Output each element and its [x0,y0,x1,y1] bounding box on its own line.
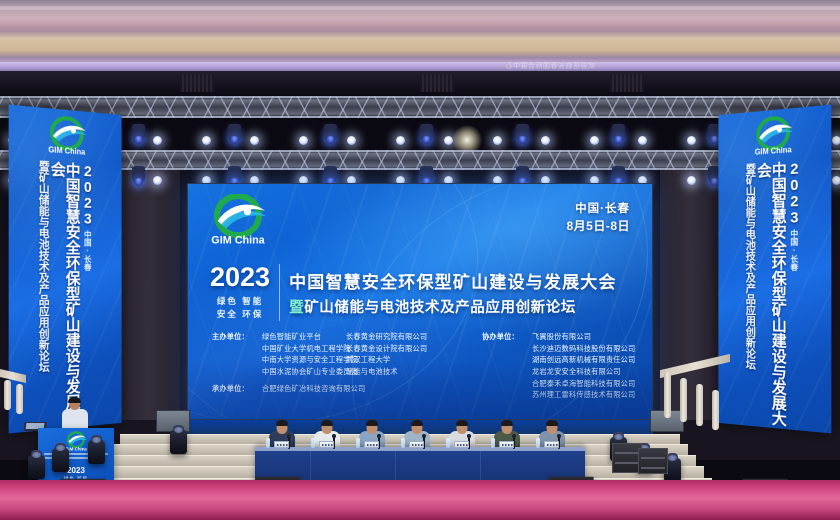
cohost-label: 协办单位： [482,331,532,343]
led-bottom-glow [188,361,652,419]
led-title-block: 2023 绿色 智能 安全 环保 中国智慧安全环保型矿山建设与发展大会 暨矿山储… [210,264,617,321]
water-bottle [446,438,450,448]
name-plate [499,441,514,448]
gim-china-logo-icon: GIM China [204,194,272,248]
name-plate [454,441,469,448]
panelist-hair [546,420,558,426]
par-light [250,136,259,145]
stage-scene: 欢迎莅临长春国际会展中心 GIM China [0,0,840,520]
stage-step [120,434,680,444]
baluster [4,380,11,410]
banner-left-location: 中国·长春 [83,230,93,271]
moving-head-light [612,124,625,141]
vertical-banner-right: GIM China 2023 中国·长春 中国智慧安全环保型矿山建设与发展大会 … [718,105,831,434]
led-location: 中国·长春 [566,201,630,218]
equipment-rack-case [638,448,668,474]
svg-text:GIM China: GIM China [755,145,793,157]
par-light [687,176,696,185]
water-bottle [491,438,495,448]
led-title-main: 中国智慧安全环保型矿山建设与发展大会 [289,268,617,293]
host-label-spacer [212,343,262,355]
panelist-hair [456,420,468,426]
led-backdrop-screen: GIM China 中国·长春 8月5日-8日 2023 绿色 智能 安全 环保… [187,183,653,420]
organizer-row: 中国矿业大学机电工程学院 长春黄金设计院有限公司 [212,343,464,355]
truss-lattice [0,96,840,118]
moving-head-light [132,166,145,183]
banner-left-title-sub: 暨矿山储能与电池技术及产品应用创新论坛 [37,160,48,429]
water-bottle [536,438,540,448]
par-light [153,136,162,145]
led-year: 2023 [210,264,270,291]
svg-text:GIM China: GIM China [48,145,85,157]
ceiling-band-1 [0,6,840,10]
banner-left-text-columns: 2023 中国·长春 中国智慧安全环保型矿山建设与发展大会 暨矿山储能与电池技术… [9,158,122,431]
banner-left-year-group: 2023 中国·长春 [80,163,96,425]
water-bottle [311,438,315,448]
banner-right-title-sub: 暨矿山储能与电池技术及产品应用创新论坛 [744,163,754,424]
par-light [590,136,599,145]
name-plate [364,441,379,448]
par-light [493,136,502,145]
banner-right-year-group: 2023 中国·长春 [786,160,803,429]
ceiling-band-2 [0,19,840,22]
floor-moving-head-light [52,448,69,472]
moving-head-light [420,124,433,141]
name-plate [319,441,334,448]
par-light [347,136,356,145]
vertical-banner-left: GIM China 2023 中国·长春 中国智慧安全环保型矿山建设与发展大会 … [9,105,122,434]
led-titles: 中国智慧安全环保型矿山建设与发展大会 暨矿山储能与电池技术及产品应用创新论坛 [289,268,617,317]
banner-right-location: 中国·长春 [789,229,800,271]
organizer-row: 协办单位： 飞翼股份有限公司 [482,331,638,343]
organizer-row: 长沙迪迈数码科技股份有限公司 [482,343,638,355]
panelist-hair [276,420,288,426]
speaker-at-podium [62,398,88,432]
name-plate [544,441,559,448]
baluster [696,384,703,426]
ceiling-band-3 [0,41,840,51]
baluster [712,390,719,430]
moving-head-light [516,124,529,141]
water-bottle [401,438,405,448]
banner-left-year: 2023 [80,163,96,227]
led-title-sub: 矿山储能与电池技术及产品应用创新论坛 [304,300,576,316]
led-dates: 8月5日-8日 [566,218,630,235]
par-light [202,136,211,145]
baluster [664,372,671,418]
host-item: 长春黄金研究院有限公司 [346,331,464,343]
led-title-sub-row: 暨矿山储能与电池技术及产品应用创新论坛 [289,296,617,317]
wall-pillar [120,170,180,420]
water-bottle [266,438,270,448]
panelist-hair [501,420,513,426]
cohost-label-spacer [482,343,532,355]
moving-head-light [228,166,241,183]
floor-moving-head-light [88,440,105,464]
ceiling-vent [610,74,644,92]
podium-year: 2023 [38,466,114,475]
gim-china-logo-icon: GIM China [42,114,92,160]
name-plate [274,441,289,448]
led-slogan: 绿色 智能 安全 环保 [217,295,263,321]
speaker-hair [68,397,81,403]
led-location-dates: 中国·长春 8月5日-8日 [566,201,630,235]
host-item: 绿色智能矿业平台 [262,331,346,343]
ceiling-vent [180,74,214,92]
par-light [832,136,840,145]
ceiling-vent [420,74,454,92]
organizer-row: 主办单位： 绿色智能矿业平台 长春黄金研究院有限公司 [212,331,464,343]
host-item: 中国矿业大学机电工程学院 [262,343,346,355]
moving-head-light [132,124,145,141]
par-light [687,136,696,145]
led-year-block: 2023 绿色 智能 安全 环保 [210,264,280,321]
ceiling-strip-text: 欢迎莅临长春国际会展中心 [420,62,680,71]
banner-right-title-main: 中国智慧安全环保型矿山建设与发展大会 [755,161,785,427]
banner-right-year: 2023 [786,160,803,226]
name-plate [409,441,424,448]
lighting-truss-upper [0,96,840,118]
gim-china-logo-icon: GIM China [748,114,798,160]
moving-head-light [324,124,337,141]
par-light [299,136,308,145]
ceiling: 欢迎莅临长春国际会展中心 [0,0,840,74]
moving-head-light [420,166,433,183]
par-light [541,136,550,145]
panelist-hair [411,420,423,426]
panelist-hair [366,420,378,426]
par-light [396,136,405,145]
par-light [832,176,840,185]
par-light [638,136,647,145]
led-slogan-line2: 安全 环保 [217,308,263,321]
host-label: 主办单位： [212,331,262,343]
moving-head-light [612,166,625,183]
banner-right-text-columns: 2023 中国·长春 中国智慧安全环保型矿山建设与发展大会 暨矿山储能与电池技术… [718,158,831,431]
led-title-sub-prefix: 暨 [289,300,304,316]
cohost-item: 飞翼股份有限公司 [532,331,638,343]
floor-moving-head-light [28,455,45,479]
baluster [680,378,687,422]
cohost-item: 长沙迪迈数码科技股份有限公司 [532,343,638,355]
moving-head-light [228,124,241,141]
red-carpet-floor [0,480,840,520]
host-item: 长春黄金设计院有限公司 [346,343,464,355]
panelist-hair [321,420,333,426]
moving-head-light [516,166,529,183]
water-bottle [356,438,360,448]
baluster [16,384,23,414]
banner-left-title-main: 中国智慧安全环保型矿山建设与发展大会 [49,161,79,428]
floor-moving-head-light [170,430,187,454]
moving-head-light [324,166,337,183]
led-slogan-line1: 绿色 智能 [217,295,263,308]
svg-text:GIM China: GIM China [211,234,265,246]
